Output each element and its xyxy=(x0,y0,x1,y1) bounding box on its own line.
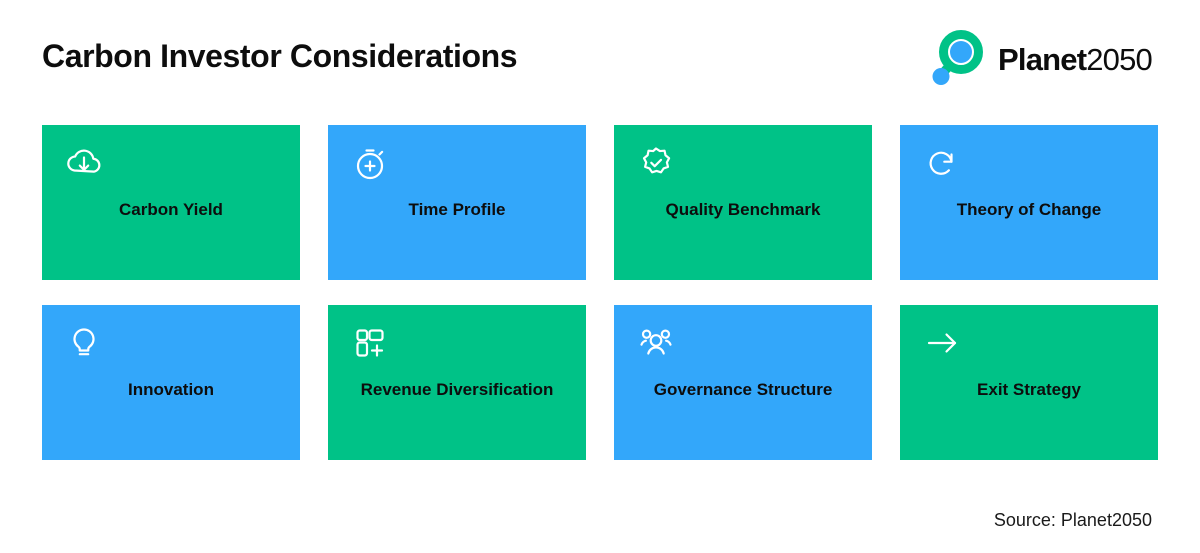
arrow-right-icon xyxy=(920,321,964,365)
card-label: Quality Benchmark xyxy=(643,181,843,223)
timer-plus-icon xyxy=(348,141,392,185)
card-label: Governance Structure xyxy=(643,361,843,403)
card-time-profile[interactable]: Time Profile xyxy=(328,125,586,280)
card-theory-of-change[interactable]: Theory of Change xyxy=(900,125,1158,280)
planet2050-logo-mark-icon xyxy=(926,28,988,90)
page-title: Carbon Investor Considerations xyxy=(42,38,517,75)
users-group-icon xyxy=(634,321,678,365)
logo-wordmark: Planet2050 xyxy=(998,44,1152,75)
header: Carbon Investor Considerations Planet205… xyxy=(0,0,1200,110)
card-label: Innovation xyxy=(71,361,271,403)
card-revenue-diversification[interactable]: Revenue Diversification xyxy=(328,305,586,460)
cloud-download-icon xyxy=(62,141,106,185)
card-label: Theory of Change xyxy=(929,181,1129,223)
lightbulb-icon xyxy=(62,321,106,365)
card-label: Time Profile xyxy=(357,181,557,223)
verified-badge-icon xyxy=(634,141,678,185)
card-carbon-yield[interactable]: Carbon Yield xyxy=(42,125,300,280)
card-governance-structure[interactable]: Governance Structure xyxy=(614,305,872,460)
infographic-page: Carbon Investor Considerations Planet205… xyxy=(0,0,1200,553)
refresh-clockwise-icon xyxy=(920,141,964,185)
source-attribution: Source: Planet2050 xyxy=(994,510,1152,531)
brand-logo: Planet2050 xyxy=(926,28,1152,90)
layout-plus-icon xyxy=(348,321,392,365)
logo-wordmark-primary: Planet xyxy=(998,44,1086,75)
card-label: Revenue Diversification xyxy=(357,361,557,403)
card-exit-strategy[interactable]: Exit Strategy xyxy=(900,305,1158,460)
card-innovation[interactable]: Innovation xyxy=(42,305,300,460)
card-label: Exit Strategy xyxy=(929,361,1129,403)
consideration-card-grid: Carbon Yield Time Profile xyxy=(42,125,1158,460)
logo-wordmark-secondary: 2050 xyxy=(1086,44,1152,75)
card-quality-benchmark[interactable]: Quality Benchmark xyxy=(614,125,872,280)
card-label: Carbon Yield xyxy=(71,181,271,223)
